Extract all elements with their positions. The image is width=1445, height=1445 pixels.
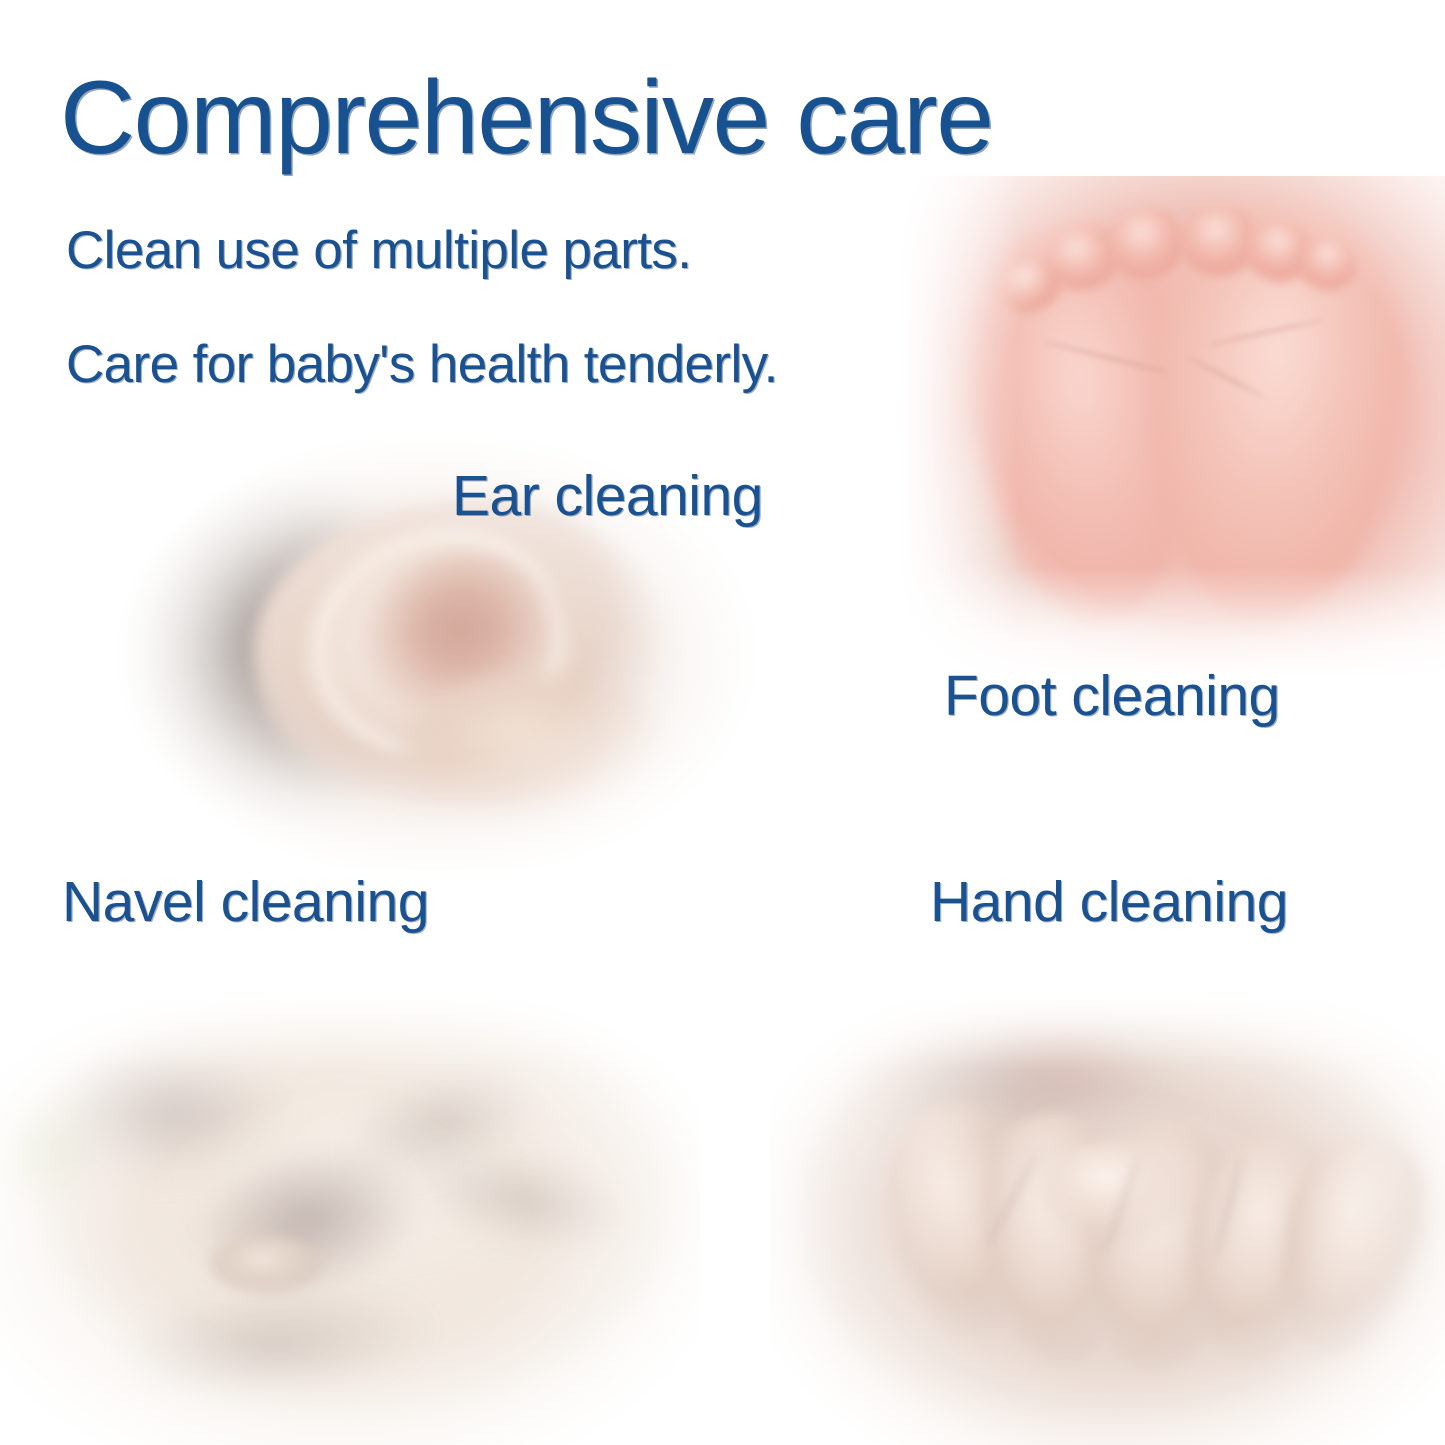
subtitle-line-1: Clean use of multiple parts. [66,222,691,280]
subtitle-line-2: Care for baby's health tenderly. [66,336,778,394]
baby-hand-photo [770,1000,1445,1445]
caption-ear-cleaning: Ear cleaning [452,468,763,525]
toes-group [998,196,1401,326]
baby-navel-photo [0,1000,700,1445]
caption-foot-cleaning: Foot cleaning [944,668,1280,725]
caption-hand-cleaning: Hand cleaning [930,874,1288,931]
comprehensive-care-banner: Comprehensive care Clean use of multiple… [0,0,1445,1445]
navel-knot [210,1236,322,1294]
hand-photo-rose-tint [973,1018,1149,1098]
navel-photo-green-tint [0,1089,112,1205]
baby-feet-photo [900,176,1445,676]
caption-navel-cleaning: Navel cleaning [62,874,429,931]
toe [1105,204,1187,282]
page-title: Comprehensive care [60,62,993,174]
